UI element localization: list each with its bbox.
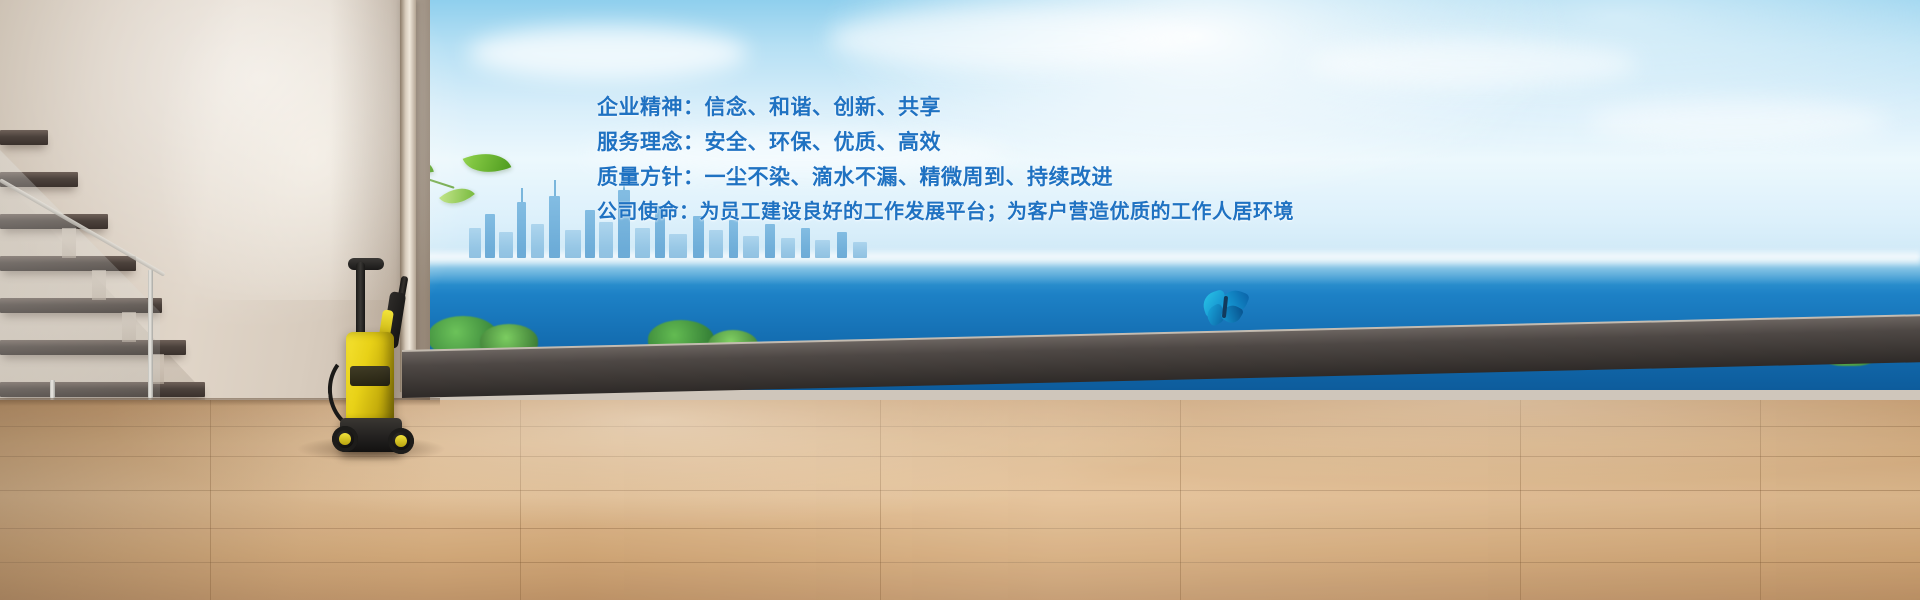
mural-line-corporate-spirit: 企业精神：信念、和谐、创新、共享 (597, 90, 1497, 125)
washer-panel (350, 366, 390, 386)
mural-line-company-mission: 公司使命：为员工建设良好的工作发展平台；为客户营造优质的工作人居环境 (597, 195, 1497, 230)
cloud-shape (1308, 40, 1638, 88)
butterfly-icon (1203, 288, 1249, 328)
mural-line-service-philosophy: 服务理念：安全、环保、优质、高效 (597, 125, 1497, 160)
washer-wheel (332, 426, 358, 452)
mural-line-quality-policy: 质量方针：一尘不染、滴水不漏、精微周到、持续改进 (597, 160, 1497, 195)
washer-wheel (388, 428, 414, 454)
pressure-washer (312, 258, 424, 458)
mural-text-block: 企业精神：信念、和谐、创新、共享 服务理念：安全、环保、优质、高效 质量方针：一… (597, 90, 1497, 230)
cloud-shape (1588, 100, 1888, 144)
washer-handle-top (348, 258, 384, 270)
cloud-shape (468, 26, 748, 80)
floating-staircase (0, 120, 205, 430)
stair-tread (0, 130, 48, 145)
glass-balustrade (0, 150, 160, 420)
cloud-shape (828, 8, 1188, 70)
banner-stage: 企业精神：信念、和谐、创新、共享 服务理念：安全、环保、优质、高效 质量方针：一… (0, 0, 1920, 600)
washer-handle (356, 262, 365, 340)
